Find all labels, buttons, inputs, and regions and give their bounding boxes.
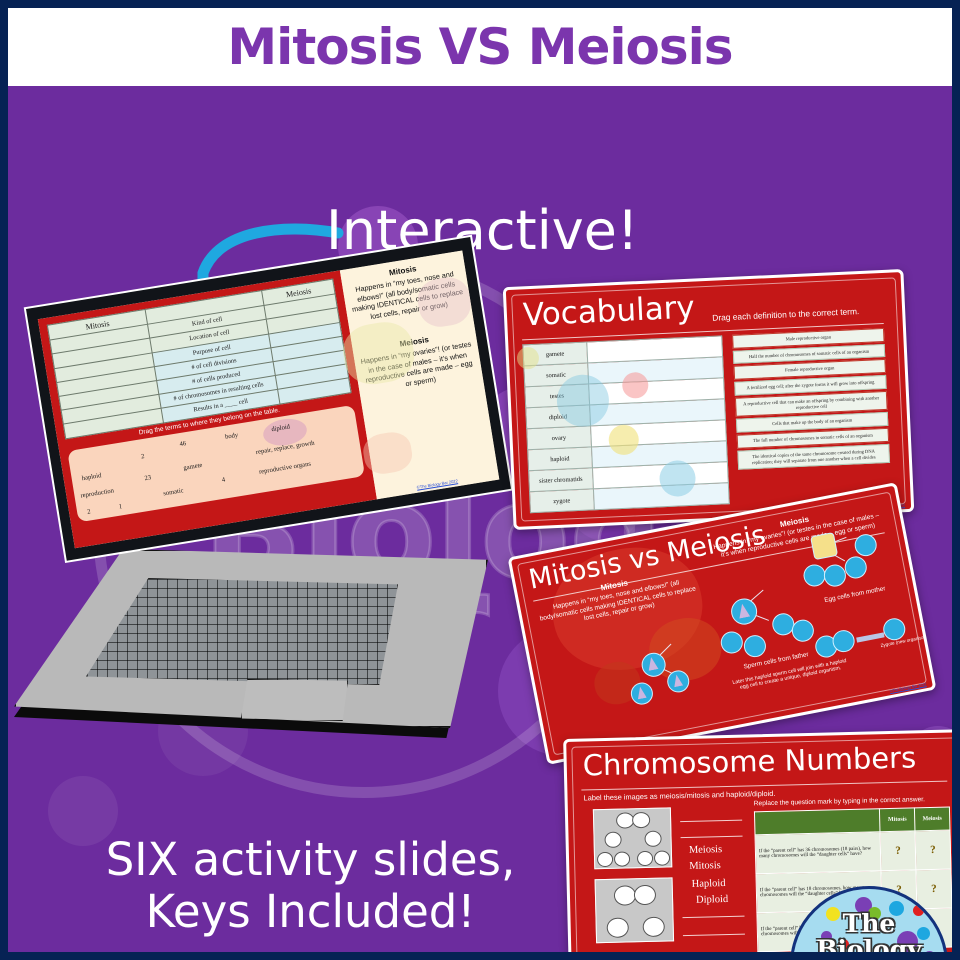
laptop-lid: Mitosis Meiosis Kind of cell Location of… (26, 237, 511, 561)
cell-circle (637, 851, 653, 866)
drag-term[interactable]: haploid (81, 472, 102, 482)
drag-term[interactable]: somatic (163, 487, 184, 497)
vocab-term[interactable]: zygote (529, 489, 594, 513)
page-title: Mitosis VS Meiosis (227, 18, 732, 76)
drag-term[interactable]: 2 (87, 508, 91, 515)
meiosis-diagram-image[interactable] (593, 807, 672, 869)
cell-circle (644, 831, 661, 847)
table-row: If the “parent cell” has 36 chromosomes … (755, 830, 951, 874)
cell-circle (614, 851, 630, 866)
word-bank-item[interactable]: Haploid (692, 878, 726, 890)
answer-cell-mitosis[interactable]: ? (880, 831, 916, 871)
cell-circle (607, 917, 629, 938)
col-header-meiosis: Meiosis (914, 807, 949, 831)
word-bank-item[interactable]: Mitosis (689, 860, 721, 872)
answer-cell-meiosis[interactable]: ? (916, 869, 952, 909)
cell-circle (604, 832, 621, 848)
cell-circle (597, 852, 613, 867)
cell-circle (634, 885, 656, 906)
drag-term[interactable]: 1 (118, 503, 122, 510)
screen-slide-table: Mitosis Meiosis Kind of cell Location of… (38, 270, 377, 548)
logo-text: The Biology Bar (793, 911, 945, 952)
vocab-term[interactable]: ovary (527, 426, 592, 450)
vocab-term[interactable]: haploid (528, 447, 593, 471)
drag-term[interactable]: reproduction (80, 487, 114, 499)
header-band: Mitosis VS Meiosis (8, 8, 952, 86)
drag-term[interactable]: 23 (144, 474, 152, 482)
drag-term[interactable]: 4 (221, 476, 225, 483)
logo-line-2: Biology (793, 937, 945, 952)
drag-term[interactable]: reproductive organs (258, 460, 311, 475)
poster-canvas: Mitosis VS Meiosis Biolog Bar Interactiv… (0, 0, 960, 960)
cell-node-square (810, 532, 838, 560)
laptop-trackpad[interactable] (241, 679, 348, 721)
col-header-blank (754, 809, 880, 835)
drag-term[interactable]: gamete (183, 461, 203, 471)
cell-circle (654, 850, 670, 865)
answer-cell-meiosis[interactable]: ? (915, 830, 951, 870)
cell-circle (642, 917, 664, 938)
word-bank-item[interactable]: Diploid (696, 894, 728, 906)
poster-body: Biolog Bar Interactive! (8, 86, 952, 952)
drag-term[interactable]: 46 (179, 440, 187, 448)
mitosis-diagram-image[interactable] (595, 877, 675, 943)
cell-circle (632, 812, 650, 828)
drag-term[interactable]: 2 (141, 453, 145, 460)
bottom-caption: SIX activity slides, Keys Included! (38, 834, 583, 938)
credit-link[interactable]: ©The Biology Bar 2022 (376, 472, 499, 497)
vocabulary-definitions: Male reproductive organ Half the number … (732, 328, 890, 472)
laptop-screen: Mitosis Meiosis Kind of cell Location of… (38, 250, 500, 548)
cell-circle (614, 885, 636, 906)
vocab-definition[interactable]: The identical copies of the same chromos… (737, 444, 890, 470)
question-cell: If the “parent cell” has 36 chromosomes … (755, 832, 881, 874)
drag-term[interactable]: body (224, 431, 238, 440)
caption-line-2: Keys Included! (38, 886, 583, 938)
col-header-mitosis: Mitosis (880, 808, 915, 832)
word-bank-item[interactable]: Meiosis (689, 844, 723, 856)
laptop-illustration: Mitosis Meiosis Kind of cell Location of… (8, 281, 568, 761)
logo-line-1: The (793, 911, 945, 937)
vocab-term[interactable]: sister chromatids (529, 468, 594, 492)
caption-line-1: SIX activity slides, (38, 834, 583, 886)
